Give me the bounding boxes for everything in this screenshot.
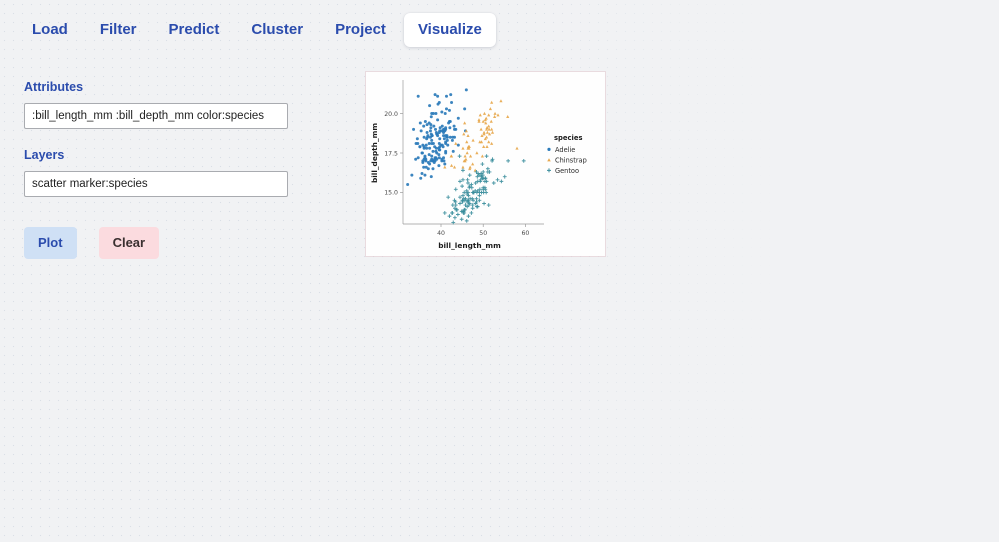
data-point bbox=[438, 156, 441, 159]
data-point bbox=[465, 140, 468, 143]
data-point bbox=[418, 145, 421, 148]
data-point bbox=[461, 166, 464, 169]
data-point bbox=[427, 167, 430, 170]
data-point bbox=[493, 112, 496, 115]
data-point bbox=[434, 128, 437, 131]
data-point bbox=[444, 142, 447, 145]
data-point bbox=[463, 154, 466, 157]
data-point bbox=[438, 137, 441, 140]
data-point bbox=[480, 128, 483, 131]
data-point bbox=[487, 113, 490, 116]
legend-label-gentoo: Gentoo bbox=[555, 167, 579, 175]
data-point bbox=[430, 155, 433, 158]
data-point bbox=[487, 124, 490, 127]
series-adelie bbox=[406, 88, 468, 186]
data-point bbox=[458, 154, 462, 158]
data-point bbox=[451, 139, 454, 142]
clear-button[interactable]: Clear bbox=[99, 227, 160, 259]
data-point bbox=[421, 144, 424, 147]
legend-marker-adelie bbox=[547, 148, 550, 151]
data-point bbox=[416, 142, 419, 145]
data-point bbox=[522, 159, 526, 163]
tab-load[interactable]: Load bbox=[18, 13, 82, 47]
data-point bbox=[496, 178, 500, 182]
data-point bbox=[475, 151, 478, 154]
data-point bbox=[414, 158, 417, 161]
data-point bbox=[433, 161, 436, 164]
tab-cluster[interactable]: Cluster bbox=[237, 13, 317, 47]
data-point bbox=[440, 144, 443, 147]
data-point bbox=[429, 136, 432, 139]
data-point bbox=[448, 214, 452, 218]
tab-filter[interactable]: Filter bbox=[86, 13, 151, 47]
x-tick-label: 50 bbox=[479, 230, 487, 237]
data-point bbox=[434, 93, 437, 96]
data-point bbox=[480, 162, 484, 166]
legend-title: species bbox=[554, 134, 583, 142]
data-point bbox=[450, 164, 453, 167]
data-point bbox=[417, 156, 420, 159]
chart-card[interactable]: 405060 15.017.520.0 speciesAdelieChinstr… bbox=[366, 72, 605, 256]
data-point bbox=[490, 120, 493, 123]
data-point bbox=[493, 115, 496, 118]
data-point bbox=[506, 115, 509, 118]
data-point bbox=[416, 137, 419, 140]
data-point bbox=[496, 113, 499, 116]
data-point bbox=[446, 136, 449, 139]
data-point bbox=[460, 184, 464, 188]
data-point bbox=[428, 147, 431, 150]
layers-input[interactable] bbox=[24, 171, 288, 197]
data-point bbox=[428, 153, 431, 156]
legend-marker-gentoo bbox=[547, 168, 551, 172]
data-point bbox=[477, 118, 480, 121]
data-point bbox=[429, 129, 432, 132]
data-point bbox=[453, 136, 456, 139]
data-point bbox=[485, 117, 488, 120]
data-point bbox=[438, 129, 441, 132]
data-point bbox=[485, 145, 488, 148]
data-point bbox=[441, 125, 444, 128]
data-point bbox=[470, 211, 474, 215]
data-point bbox=[466, 134, 469, 137]
data-point bbox=[443, 166, 446, 169]
data-point bbox=[482, 145, 485, 148]
data-point bbox=[443, 211, 447, 215]
data-point bbox=[442, 131, 445, 134]
data-point bbox=[461, 147, 464, 150]
data-point bbox=[426, 131, 429, 134]
data-point-group bbox=[406, 88, 526, 224]
data-point bbox=[487, 203, 491, 207]
layers-label: Layers bbox=[24, 148, 288, 163]
data-point bbox=[423, 158, 426, 161]
data-point bbox=[471, 162, 474, 165]
data-point bbox=[431, 167, 434, 170]
data-point bbox=[445, 95, 448, 98]
y-tick-label: 20.0 bbox=[384, 111, 398, 118]
data-point bbox=[463, 107, 466, 110]
x-tick-label: 40 bbox=[437, 230, 445, 237]
series-gentoo bbox=[443, 154, 526, 224]
data-point bbox=[482, 132, 485, 135]
data-point bbox=[452, 150, 455, 153]
y-axis-label: bill_depth_mm bbox=[370, 123, 379, 183]
data-point bbox=[423, 147, 426, 150]
data-point bbox=[463, 121, 466, 124]
data-point bbox=[453, 166, 456, 169]
y-tick-label: 15.0 bbox=[384, 190, 398, 197]
data-point bbox=[471, 139, 474, 142]
data-point bbox=[434, 150, 437, 153]
data-point bbox=[445, 107, 448, 110]
data-point bbox=[448, 109, 451, 112]
data-point bbox=[515, 147, 518, 150]
data-point bbox=[410, 174, 413, 177]
data-point bbox=[446, 195, 450, 199]
data-point bbox=[487, 140, 490, 143]
x-tick-group: 405060 bbox=[437, 224, 529, 237]
data-point bbox=[485, 154, 489, 158]
data-point bbox=[442, 128, 445, 131]
data-point bbox=[466, 151, 469, 154]
data-point bbox=[421, 172, 424, 175]
data-point bbox=[424, 120, 427, 123]
data-point bbox=[490, 101, 493, 104]
data-point bbox=[442, 159, 445, 162]
y-tick-label: 17.5 bbox=[384, 150, 398, 157]
data-point bbox=[450, 101, 453, 104]
data-point bbox=[454, 187, 458, 191]
data-point bbox=[506, 159, 510, 163]
nav-tabbar: Load Filter Predict Cluster Project Visu… bbox=[0, 0, 999, 47]
data-point bbox=[468, 173, 472, 177]
data-point bbox=[490, 128, 493, 131]
data-point bbox=[489, 107, 492, 110]
attributes-label: Attributes bbox=[24, 80, 288, 95]
data-point bbox=[428, 122, 431, 125]
data-point bbox=[422, 166, 425, 169]
data-point bbox=[430, 139, 433, 142]
data-point bbox=[483, 112, 486, 115]
tab-project[interactable]: Project bbox=[321, 13, 400, 47]
data-point bbox=[443, 137, 446, 140]
data-point bbox=[446, 139, 449, 142]
data-point bbox=[444, 112, 447, 115]
data-point bbox=[425, 137, 428, 140]
data-point bbox=[420, 129, 423, 132]
visualize-form-panel: Attributes Layers Plot Clear bbox=[24, 80, 288, 259]
data-point bbox=[457, 144, 460, 147]
x-tick-label: 60 bbox=[522, 230, 530, 237]
data-point bbox=[469, 154, 472, 157]
data-point bbox=[462, 132, 465, 135]
data-point bbox=[499, 180, 503, 184]
data-point bbox=[421, 152, 424, 155]
data-point bbox=[465, 219, 469, 223]
data-point bbox=[428, 104, 431, 107]
data-point bbox=[461, 168, 465, 172]
data-point bbox=[451, 211, 455, 215]
data-point bbox=[444, 152, 447, 155]
data-point bbox=[467, 214, 471, 218]
data-point bbox=[412, 128, 415, 131]
data-point bbox=[486, 131, 489, 134]
data-point bbox=[485, 136, 488, 139]
data-point bbox=[430, 175, 433, 178]
data-point bbox=[437, 164, 440, 167]
data-point bbox=[438, 148, 441, 151]
data-point bbox=[436, 118, 439, 121]
data-point bbox=[479, 113, 482, 116]
form-button-row: Plot Clear bbox=[24, 227, 288, 259]
scatter-plot: 405060 15.017.520.0 speciesAdelieChinstr… bbox=[366, 72, 605, 256]
data-point bbox=[432, 112, 435, 115]
data-point bbox=[438, 101, 441, 104]
data-point bbox=[419, 177, 422, 180]
data-point bbox=[443, 163, 446, 166]
data-point bbox=[419, 122, 422, 125]
data-point bbox=[448, 126, 451, 129]
data-point bbox=[465, 88, 468, 91]
data-point bbox=[481, 154, 484, 157]
data-point bbox=[454, 142, 457, 145]
data-point bbox=[431, 150, 434, 153]
data-point bbox=[457, 117, 460, 120]
data-point bbox=[442, 156, 445, 159]
data-point bbox=[429, 126, 432, 129]
data-point bbox=[422, 125, 425, 128]
data-point bbox=[453, 216, 457, 220]
data-point bbox=[471, 206, 475, 210]
data-point bbox=[482, 202, 486, 206]
legend-label-chinstrap: Chinstrap bbox=[555, 157, 587, 165]
legend-label-adelie: Adelie bbox=[555, 146, 575, 154]
data-point bbox=[499, 99, 502, 102]
data-point bbox=[406, 183, 409, 186]
y-tick-group: 15.017.520.0 bbox=[384, 111, 403, 197]
chart-legend: speciesAdelieChinstrapGentoo bbox=[547, 134, 587, 175]
data-point bbox=[454, 128, 457, 131]
legend-marker-chinstrap bbox=[547, 158, 551, 161]
data-point bbox=[433, 145, 436, 148]
attributes-input[interactable] bbox=[24, 103, 288, 129]
data-point bbox=[484, 191, 488, 195]
data-point bbox=[417, 95, 420, 98]
data-point bbox=[484, 121, 487, 124]
data-point bbox=[432, 125, 435, 128]
data-point bbox=[449, 93, 452, 96]
data-point bbox=[491, 131, 494, 134]
data-point bbox=[436, 134, 439, 137]
data-point bbox=[433, 158, 436, 161]
form-spacer bbox=[24, 129, 288, 148]
plot-button[interactable]: Plot bbox=[24, 227, 77, 259]
data-point bbox=[490, 142, 493, 145]
data-point bbox=[460, 217, 464, 221]
data-point bbox=[430, 142, 433, 145]
data-point bbox=[456, 213, 460, 217]
data-point bbox=[436, 95, 439, 98]
data-point bbox=[440, 110, 443, 113]
data-point bbox=[503, 175, 507, 179]
data-point bbox=[428, 163, 431, 166]
data-point bbox=[423, 174, 426, 177]
data-point bbox=[492, 181, 496, 185]
data-point bbox=[423, 136, 426, 139]
tab-visualize[interactable]: Visualize bbox=[404, 13, 496, 47]
data-point bbox=[453, 125, 456, 128]
data-point bbox=[430, 115, 433, 118]
tab-predict[interactable]: Predict bbox=[155, 13, 234, 47]
data-point bbox=[449, 120, 452, 123]
x-axis-label: bill_length_mm bbox=[438, 241, 501, 250]
